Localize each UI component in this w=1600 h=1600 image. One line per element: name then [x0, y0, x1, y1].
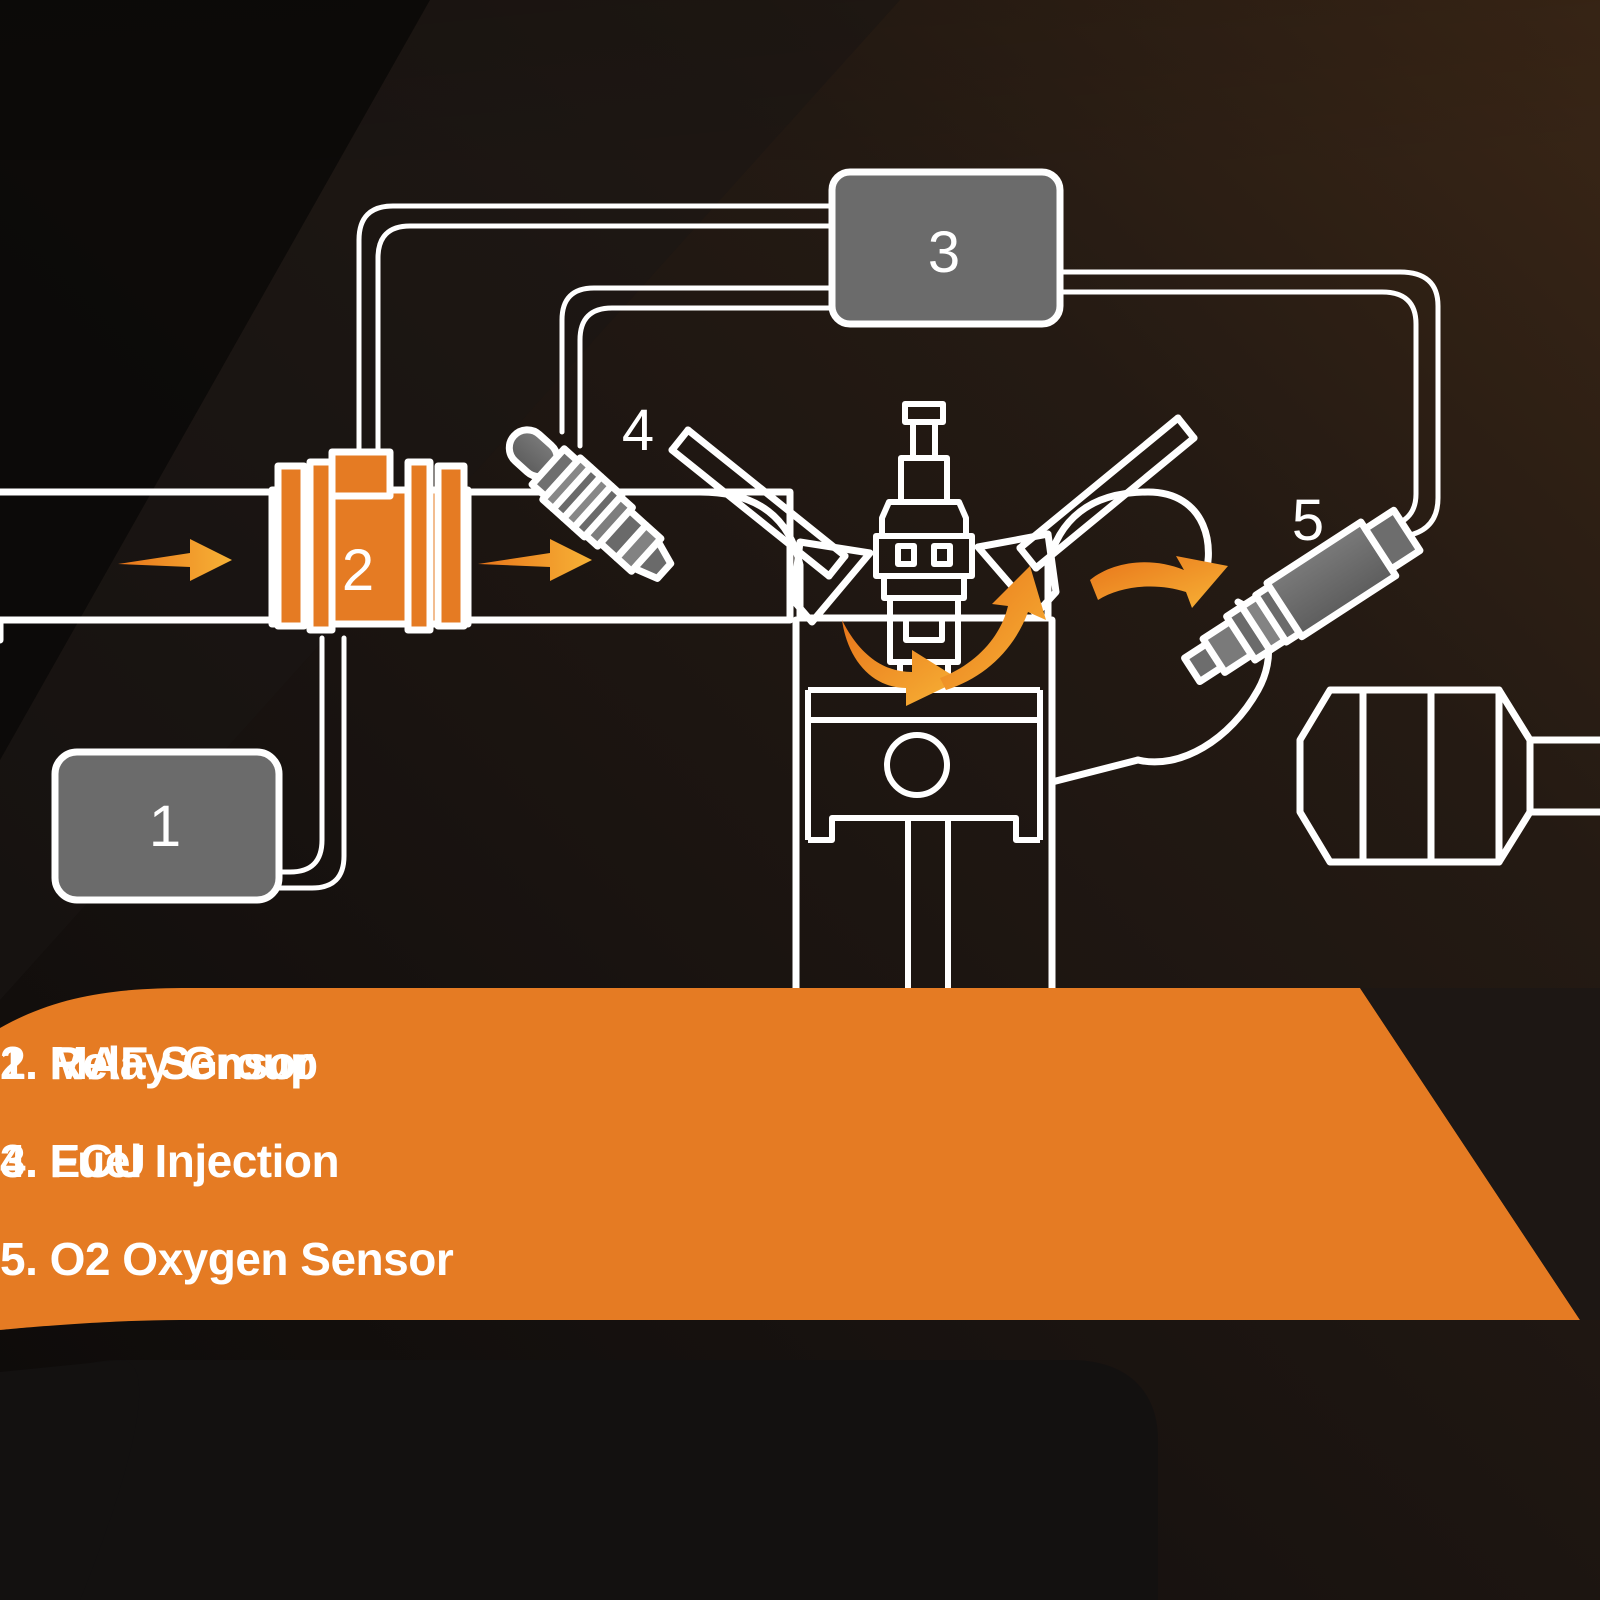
engine-diagram-canvas: 1 2 3 4 5 1. Relay Group 3. ECU 5. O2 Ox… [0, 0, 1600, 1600]
wire-relay-to-maf [278, 638, 344, 888]
diagram-layer: 1 2 3 4 5 [0, 0, 1600, 1600]
legend-item-maf-sensor[interactable]: 2. MAF Sensor [0, 1036, 313, 1090]
intake-air-arrow-2 [478, 539, 592, 581]
intake-air-arrow-1 [118, 539, 232, 581]
connecting-rod [908, 818, 948, 990]
callout-number-2: 2 [342, 538, 374, 603]
callout-number-4: 4 [622, 398, 654, 463]
exhaust-out-arrow [1090, 556, 1228, 608]
wire-maf-to-ecu [359, 206, 832, 455]
bottom-black-shape [0, 1360, 1158, 1600]
callout-number-1: 1 [149, 794, 181, 859]
callout-number-5: 5 [1292, 488, 1324, 553]
catalytic-converter [1300, 690, 1600, 862]
spark-plug [876, 404, 972, 684]
legend-item-fuel-injection[interactable]: 4. Fuel Injection [0, 1134, 339, 1188]
callout-number-3: 3 [928, 220, 960, 285]
wire-ecu-to-injector [562, 288, 832, 446]
piston [808, 690, 1040, 840]
intake-valve [672, 430, 870, 622]
legend-item-o2-oxygen-sensor[interactable]: 5. O2 Oxygen Sensor [0, 1232, 453, 1286]
